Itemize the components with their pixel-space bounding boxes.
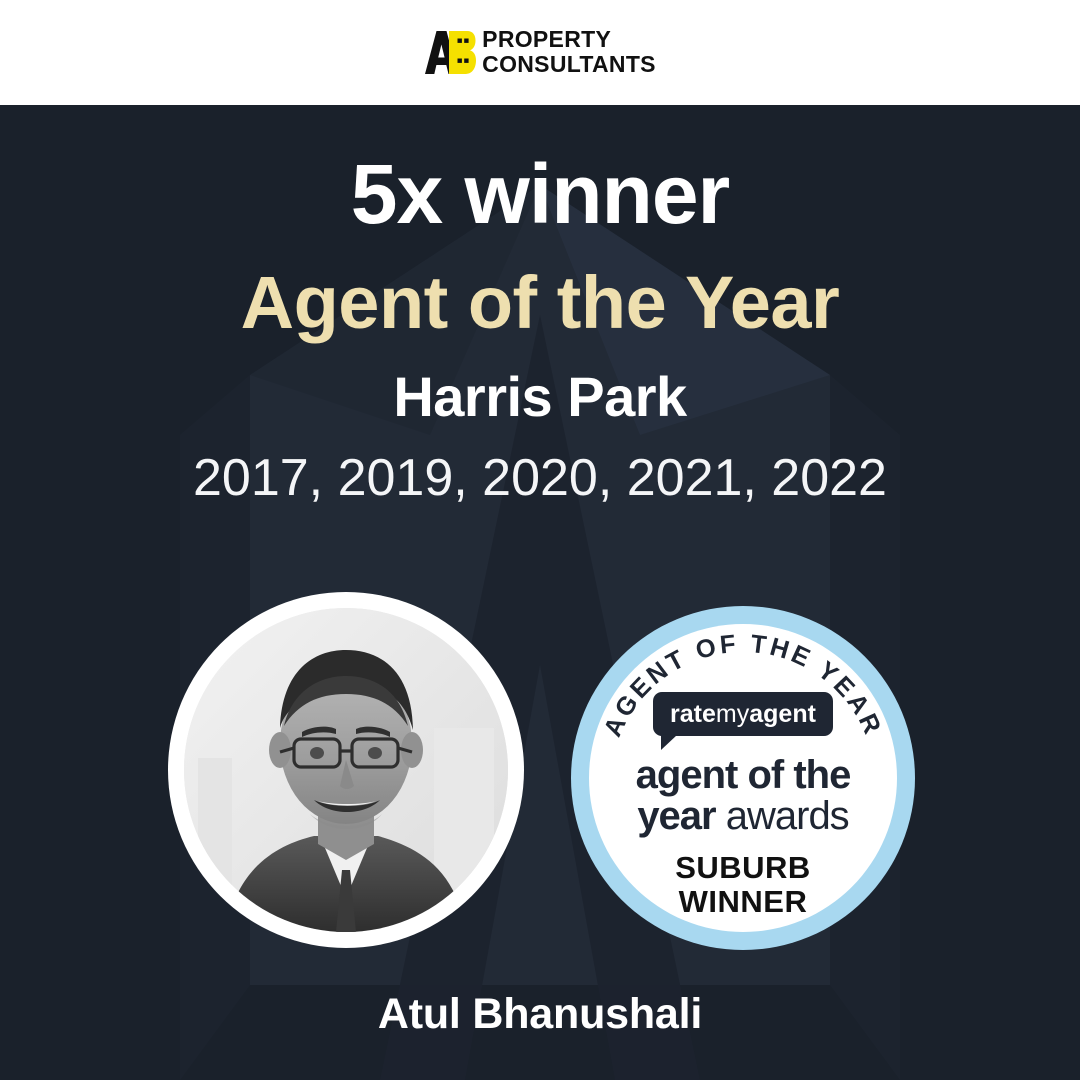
- svg-text:ratemyagent: ratemyagent: [670, 700, 817, 728]
- badge-award-line1: SUBURB: [675, 850, 811, 885]
- suburb-heading: Harris Park: [0, 368, 1080, 427]
- award-poster: PROPERTY CONSULTANTS 5x winner Agent of …: [0, 0, 1080, 1080]
- winner-count-heading: 5x winner: [0, 150, 1080, 238]
- ratemyagent-award-badge: AGENT OF THE YEAR ratemyagent agent of t…: [569, 604, 917, 952]
- logo-wordmark: PROPERTY CONSULTANTS: [482, 28, 656, 76]
- award-title-heading: Agent of the Year: [0, 264, 1080, 342]
- ab-property-consultants-logo: PROPERTY CONSULTANTS: [424, 28, 656, 76]
- agent-name: Atul Bhanushali: [0, 990, 1080, 1039]
- headline-stack: 5x winner Agent of the Year Harris Park …: [0, 105, 1080, 505]
- brand-part-my: my: [716, 700, 750, 728]
- ab-monogram-icon: [424, 30, 476, 74]
- brand-part-agent: agent: [749, 700, 816, 728]
- brand-header: PROPERTY CONSULTANTS: [0, 0, 1080, 105]
- brand-part-rate: rate: [670, 700, 716, 728]
- award-years-text: 2017, 2019, 2020, 2021, 2022: [0, 451, 1080, 506]
- agent-portrait-photo: [184, 608, 508, 932]
- badge-award-line2: WINNER: [679, 884, 808, 919]
- agent-portrait-frame: [168, 592, 524, 948]
- badge-title-line1: agent of the: [636, 753, 851, 797]
- badge-title-line2: year awards: [637, 794, 848, 838]
- logo-wordmark-line2: CONSULTANTS: [482, 53, 656, 76]
- logo-wordmark-line1: PROPERTY: [482, 28, 656, 51]
